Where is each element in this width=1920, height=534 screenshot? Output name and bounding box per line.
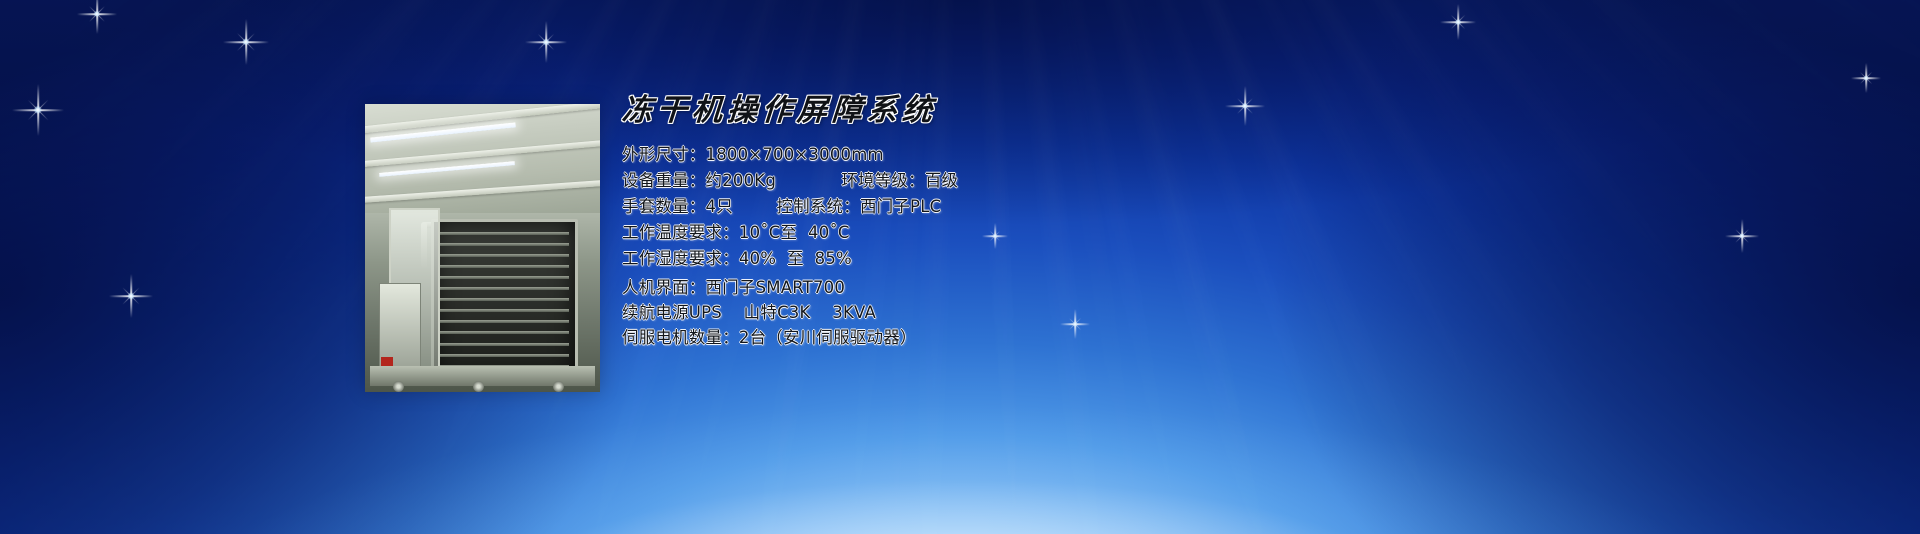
photo-shelf (439, 343, 569, 346)
text-content: 冻干机操作屏障系统 外形尺寸：1800×700×3000mm 设备重量：约200… (620, 96, 1360, 350)
photo-shelf (439, 331, 569, 334)
photo-shelf (439, 309, 569, 312)
product-photo-content (365, 104, 600, 392)
product-photo (365, 104, 600, 392)
photo-shelf (439, 276, 569, 279)
photo-shelf (439, 320, 569, 323)
spec-line-weight-class: 设备重量：约200Kg 环境等级：百级 (622, 168, 1360, 194)
photo-shelf (439, 354, 569, 357)
photo-chamber (431, 219, 578, 383)
product-banner: 冻干机操作屏障系统 外形尺寸：1800×700×3000mm 设备重量：约200… (0, 0, 1920, 534)
spec-line-gloves-plc: 手套数量：4只 控制系统：西门子PLC (622, 194, 1360, 220)
product-title: 冻干机操作屏障系统 (621, 96, 1361, 126)
photo-shelf (439, 243, 569, 246)
spec-line-hmi: 人机界面：西门子SMART700 (622, 275, 1360, 300)
photo-shelf (439, 287, 569, 290)
photo-shelf (439, 232, 569, 235)
spec-line-temperature: 工作温度要求：10˚C至 40˚C (622, 220, 1360, 246)
spec-line-dimensions: 外形尺寸：1800×700×3000mm (622, 142, 1360, 168)
spec-line-humidity: 工作湿度要求：40% 至 85% (622, 246, 1360, 272)
photo-shelf (439, 254, 569, 257)
photo-shelf (439, 298, 569, 301)
spec-line-servo: 伺服电机数量：2台（安川伺服驱动器） (622, 325, 1360, 350)
photo-shelf (439, 265, 569, 268)
spec-line-ups: 续航电源UPS 山特C3K 3KVA (622, 300, 1360, 325)
photo-caster (553, 381, 564, 392)
